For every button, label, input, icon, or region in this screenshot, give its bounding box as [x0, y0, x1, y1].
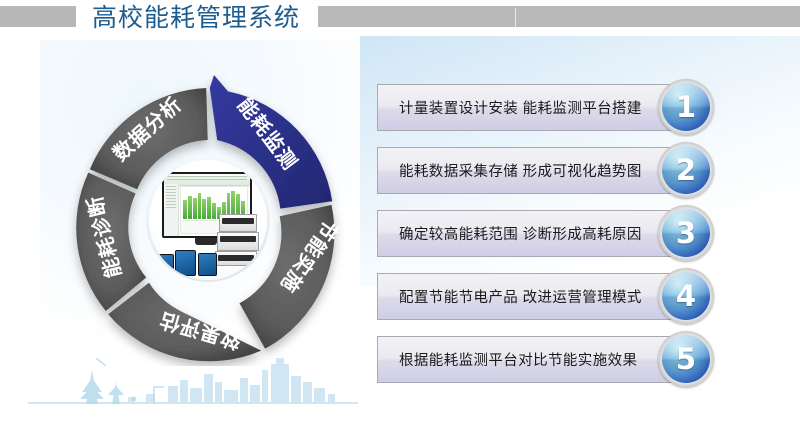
step-number: 5 — [658, 331, 714, 387]
step-bar[interactable]: 计量装置设计安装 能耗监测平台搭建 — [377, 84, 691, 131]
cycle-diagram: 能耗监测 节能实施 效果评估 能耗诊断 数据分析 — [63, 74, 353, 366]
step-item[interactable]: 确定较高能耗范围 诊断形成高耗原因 3 — [377, 210, 757, 257]
monitor-stand — [195, 238, 217, 245]
energy-meter-icon — [217, 232, 259, 251]
step-item[interactable]: 根据能耗监测平台对比节能实施效果 5 — [377, 336, 757, 383]
step-bar[interactable]: 配置节能节电产品 改进运营管理模式 — [377, 273, 691, 320]
header-bar-left-segment — [0, 6, 76, 27]
tablet-icon — [198, 253, 217, 276]
step-number: 2 — [658, 142, 714, 198]
step-list: 计量装置设计安装 能耗监测平台搭建 1 能耗数据采集存储 形成可视化趋势图 2 … — [377, 84, 757, 383]
tablet-icon — [155, 254, 174, 276]
step-badge: 3 — [658, 205, 714, 261]
step-text: 确定较高能耗范围 诊断形成高耗原因 — [378, 223, 642, 244]
header-bar-right-segment — [318, 6, 800, 27]
energy-meter-icon — [219, 214, 257, 232]
step-number: 4 — [658, 268, 714, 324]
page-title: 高校能耗管理系统 — [92, 2, 300, 34]
step-text: 配置节能节电产品 改进运营管理模式 — [378, 286, 642, 307]
step-number: 3 — [658, 205, 714, 261]
step-bar[interactable]: 能耗数据采集存储 形成可视化趋势图 — [377, 147, 691, 194]
energy-meter-icon — [215, 251, 257, 266]
center-illustration — [149, 160, 267, 280]
step-bar[interactable]: 根据能耗监测平台对比节能实施效果 — [377, 336, 691, 383]
header-bar-divider — [515, 8, 516, 34]
step-text: 能耗数据采集存储 形成可视化趋势图 — [378, 160, 642, 181]
step-item[interactable]: 配置节能节电产品 改进运营管理模式 4 — [377, 273, 757, 320]
step-item[interactable]: 能耗数据采集存储 形成可视化趋势图 2 — [377, 147, 757, 194]
step-number: 1 — [658, 79, 714, 135]
step-bar[interactable]: 确定较高能耗范围 诊断形成高耗原因 — [377, 210, 691, 257]
step-badge: 5 — [658, 331, 714, 387]
step-text: 根据能耗监测平台对比节能实施效果 — [378, 349, 637, 370]
step-item[interactable]: 计量装置设计安装 能耗监测平台搭建 1 — [377, 84, 757, 131]
tablet-icon — [175, 250, 196, 276]
step-badge: 1 — [658, 79, 714, 135]
step-text: 计量装置设计安装 能耗监测平台搭建 — [378, 97, 642, 118]
step-badge: 4 — [658, 268, 714, 324]
step-badge: 2 — [658, 142, 714, 198]
slide-canvas: 高校能耗管理系统 — [0, 0, 800, 438]
